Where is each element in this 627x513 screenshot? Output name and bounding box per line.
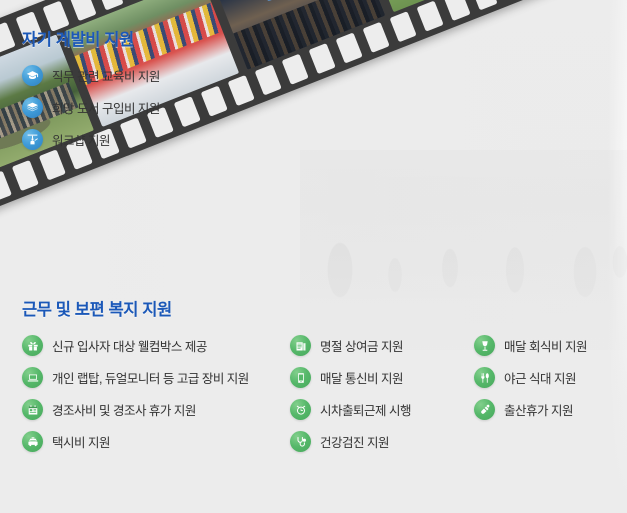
money-bill-icon	[290, 335, 311, 356]
list-item-label: 명절 상여금 지원	[320, 336, 403, 355]
list-item-label: 택시비 지원	[52, 432, 110, 451]
list-item-label: 매달 회식비 지원	[504, 336, 587, 355]
benefit-columns: 신규 입사자 대상 웰컴박스 제공 개인 랩탑, 듀얼모니터 등 고급 장비 지…	[22, 334, 587, 453]
list-item-label: 경조사비 및 경조사 휴가 지원	[52, 400, 196, 419]
list-item[interactable]: 야근 식대 지원	[474, 366, 587, 389]
section-heading-self-development: 자기 계발비 지원	[22, 26, 160, 50]
fork-knife-icon	[474, 367, 495, 388]
graduation-cap-icon	[22, 65, 43, 86]
section-self-development: 자기 계발비 지원 직무 관련 교육비 지원 희	[22, 26, 160, 151]
gift-box-icon	[22, 335, 43, 356]
list-item-label: 신규 입사자 대상 웰컴박스 제공	[52, 336, 207, 355]
list-item-label: 출산휴가 지원	[504, 400, 573, 419]
list-item[interactable]: 희망 도서 구입비 지원	[22, 96, 160, 119]
benefit-column-1: 신규 입사자 대상 웰컴박스 제공 개인 랩탑, 듀얼모니터 등 고급 장비 지…	[22, 334, 290, 453]
list-item-label: 건강검진 지원	[320, 432, 389, 451]
benefit-column-3: 매달 회식비 지원 야근 식대 지원	[474, 334, 587, 453]
list-item-label: 워크샵 지원	[52, 130, 110, 149]
list-item[interactable]: 매달 통신비 지원	[290, 366, 474, 389]
list-item[interactable]: 시차출퇴근제 시행	[290, 398, 474, 421]
section-work-and-welfare: 근무 및 보편 복지 지원 신규 입사자 대상 웰컴박스 제공	[22, 296, 587, 453]
benefit-list-self-development: 직무 관련 교육비 지원 희망 도서 구입비 지원	[22, 64, 160, 151]
stethoscope-icon	[290, 431, 311, 452]
mobile-phone-icon	[290, 367, 311, 388]
list-item[interactable]: 출산휴가 지원	[474, 398, 587, 421]
list-item[interactable]: 개인 랩탑, 듀얼모니터 등 고급 장비 지원	[22, 366, 290, 389]
list-item[interactable]: 워크샵 지원	[22, 128, 160, 151]
wine-glass-icon	[474, 335, 495, 356]
list-item-label: 매달 통신비 지원	[320, 368, 403, 387]
list-item[interactable]: 신규 입사자 대상 웰컴박스 제공	[22, 334, 290, 357]
list-item[interactable]: 매달 회식비 지원	[474, 334, 587, 357]
list-item-label: 직무 관련 교육비 지원	[52, 66, 160, 85]
list-item[interactable]: 명절 상여금 지원	[290, 334, 474, 357]
books-stack-icon	[22, 97, 43, 118]
section-heading-work-and-welfare: 근무 및 보편 복지 지원	[22, 296, 587, 320]
list-item[interactable]: 건강검진 지원	[290, 430, 474, 453]
list-item[interactable]: 경조사비 및 경조사 휴가 지원	[22, 398, 290, 421]
benefit-column-2: 명절 상여금 지원 매달 통신비 지원	[290, 334, 474, 453]
presenter-icon	[22, 129, 43, 150]
alarm-clock-icon	[290, 399, 311, 420]
baby-bottle-icon	[474, 399, 495, 420]
laptop-icon	[22, 367, 43, 388]
list-item-label: 개인 랩탑, 듀얼모니터 등 고급 장비 지원	[52, 368, 249, 387]
list-item-label: 시차출퇴근제 시행	[320, 400, 411, 419]
calendar-icon	[22, 399, 43, 420]
page-stage: 자기 계발비 지원 직무 관련 교육비 지원 희	[0, 0, 627, 513]
list-item-label: 희망 도서 구입비 지원	[52, 98, 160, 117]
list-item[interactable]: 직무 관련 교육비 지원	[22, 64, 160, 87]
taxi-icon	[22, 431, 43, 452]
list-item[interactable]: 택시비 지원	[22, 430, 290, 453]
list-item-label: 야근 식대 지원	[504, 368, 576, 387]
